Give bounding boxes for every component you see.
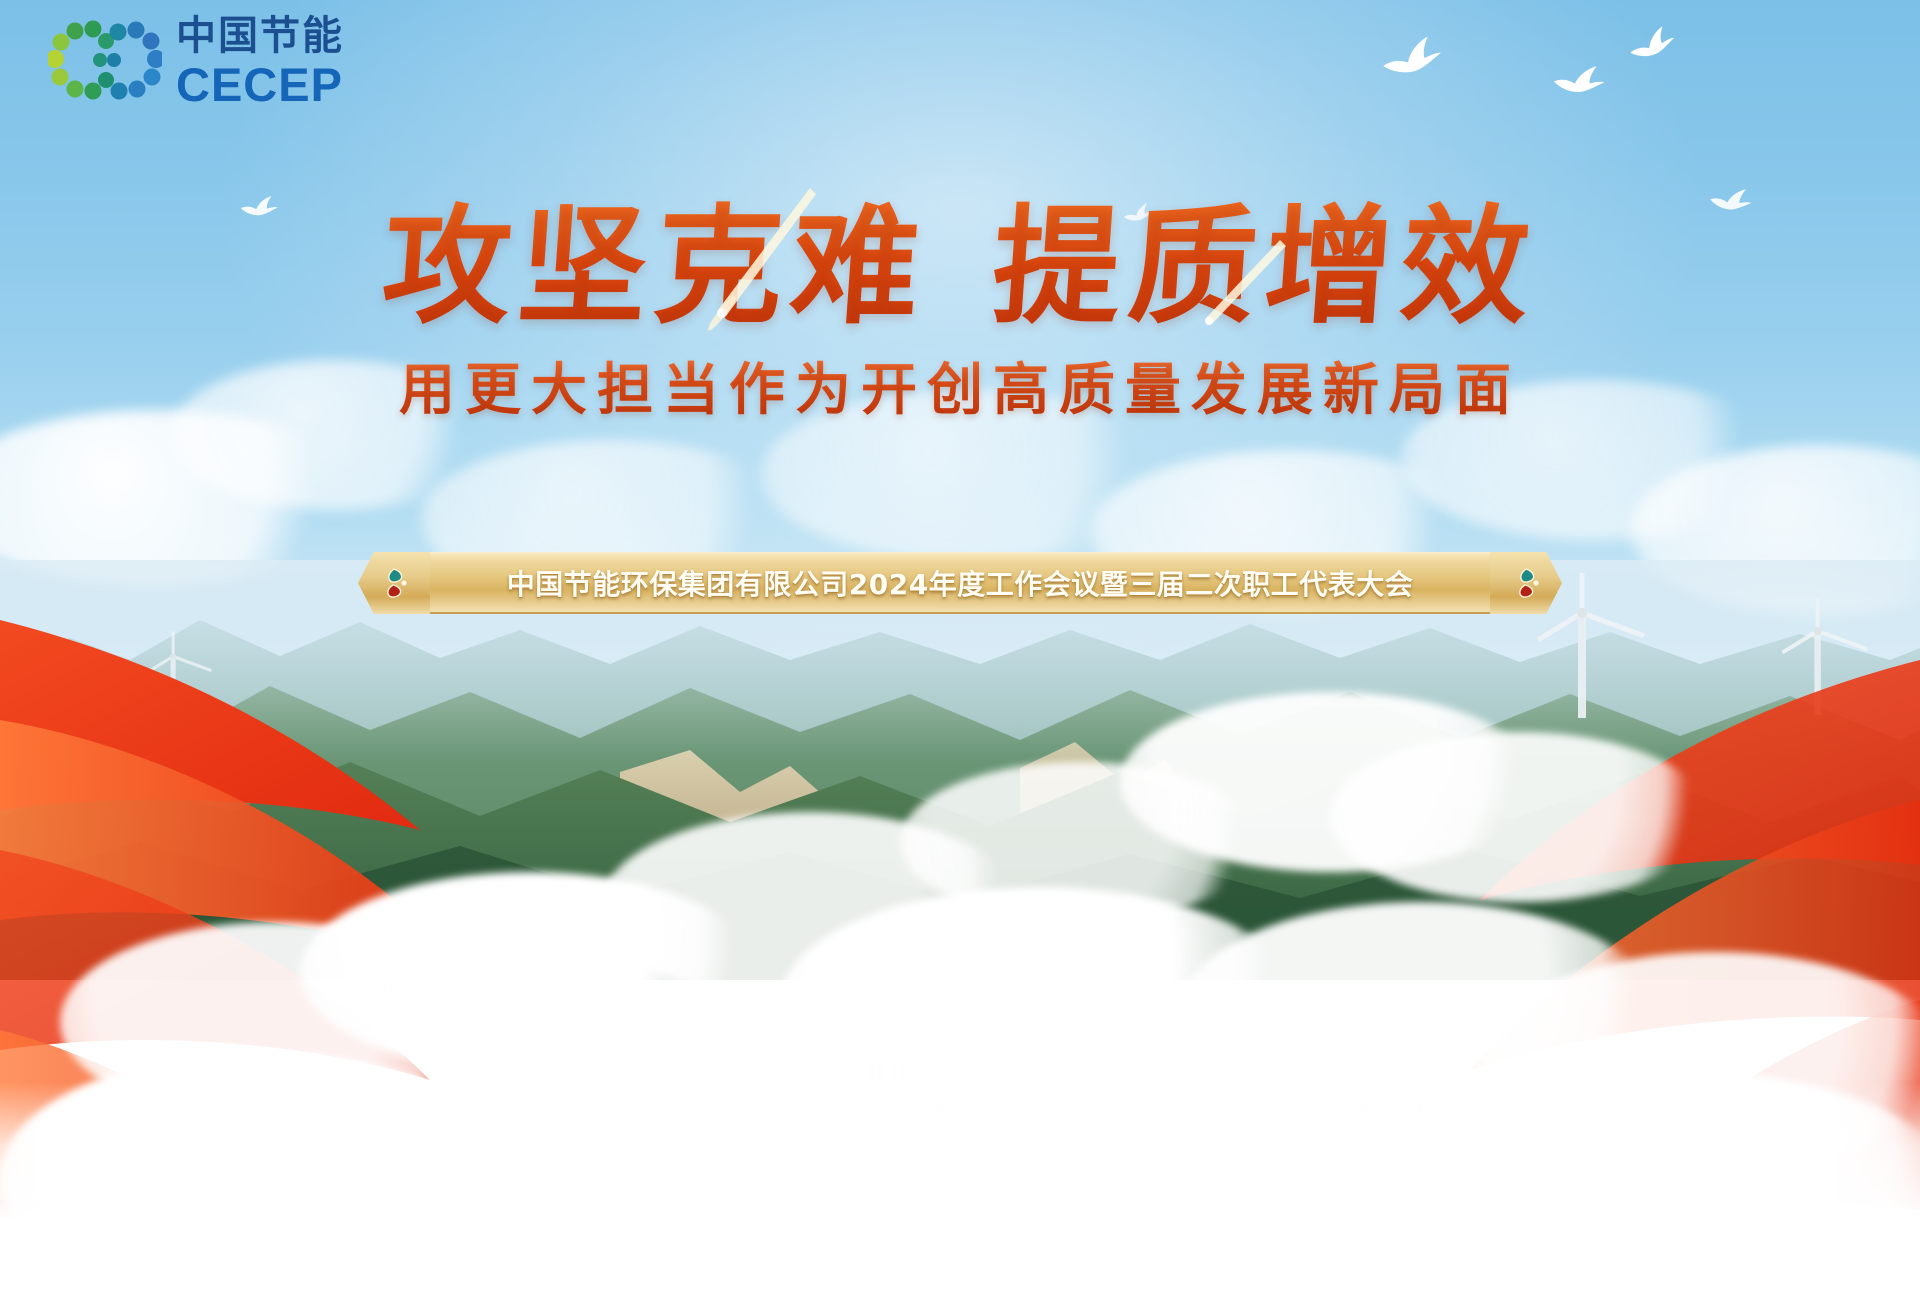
- logo-chinese-name: 中国节能: [176, 16, 344, 56]
- calligraphy-title-right: 提质增效: [988, 196, 1542, 339]
- conference-name-banner: 中国节能环保集团有限公司2024年度工作会议暨三届二次职工代表大会: [430, 552, 1490, 614]
- cecep-logo: 中国节能 CECEP: [48, 16, 344, 108]
- conference-backdrop-poster: 中国节能 CECEP 攻坚克难 提质增效 用更大担当作为开创高质量发展新局面: [0, 0, 1920, 1312]
- dove-icon: [1551, 58, 1607, 97]
- leaf-ornament-icon: [379, 566, 409, 600]
- wind-turbine-icon: [1768, 595, 1872, 715]
- subtitle-text: 用更大担当作为开创高质量发展新局面: [0, 345, 1920, 426]
- calligraphy-title-left: 攻坚克难: [378, 196, 932, 339]
- wind-turbine-icon: [135, 629, 216, 722]
- conference-name-text: 中国节能环保集团有限公司2024年度工作会议暨三届二次职工代表大会: [507, 563, 1413, 603]
- dove-icon: [1378, 31, 1445, 79]
- logo-english-name: CECEP: [176, 61, 344, 108]
- leaf-ornament-icon: [1511, 566, 1541, 600]
- main-title-block: 攻坚克难 提质增效: [0, 196, 1920, 339]
- cecep-infinity-logo: [48, 19, 162, 105]
